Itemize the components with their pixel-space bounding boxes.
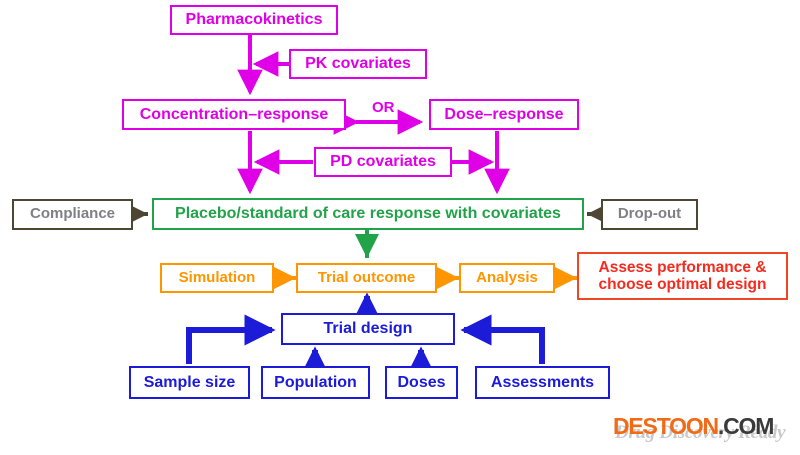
node-compliance[interactable]: Compliance [12,199,133,230]
edge-sample-size-to-trial-design [189,330,272,364]
node-label: Pharmacokinetics [186,11,323,29]
node-pd-covariates[interactable]: PD covariates [314,147,452,177]
node-label: Population [274,374,357,392]
node-assessments[interactable]: Assessments [475,366,610,399]
node-label: PK covariates [305,55,411,73]
node-label: Sample size [144,374,236,392]
node-population[interactable]: Population [261,366,370,399]
node-label: Analysis [476,270,538,287]
edge-assessments-to-trial-design [464,330,542,364]
node-pk-covariates[interactable]: PK covariates [289,49,427,79]
node-label: Assess performance & choose optimal desi… [599,259,767,294]
watermark-brand-secondary: .COM [718,413,773,439]
node-label: PD covariates [330,153,436,171]
node-label: Drop-out [618,206,681,223]
node-assess-performance[interactable]: Assess performance & choose optimal desi… [577,252,788,300]
node-label: Assessments [491,374,594,392]
watermark-brand-primary: DESTOON [613,413,718,439]
node-label: Dose–response [444,106,563,124]
node-label: Compliance [30,206,115,223]
node-trial-outcome[interactable]: Trial outcome [296,263,437,293]
node-trial-design[interactable]: Trial design [281,313,455,345]
node-label: Simulation [179,270,256,287]
diagram-canvas: Pharmacokinetics PK covariates Concentra… [0,0,800,455]
node-pharmacokinetics[interactable]: Pharmacokinetics [170,5,338,35]
label-or: OR [372,99,395,116]
node-label: Doses [397,374,445,392]
node-analysis[interactable]: Analysis [459,263,555,293]
node-concentration-response[interactable]: Concentration–response [122,99,346,130]
node-label: Trial outcome [318,270,416,287]
node-dropout[interactable]: Drop-out [601,199,698,230]
node-simulation[interactable]: Simulation [160,263,274,293]
node-label: Trial design [324,320,413,338]
node-label: Concentration–response [140,106,328,124]
node-label: Placebo/standard of care response with c… [175,205,561,223]
watermark-brand: DESTOON.COM [613,413,773,440]
node-placebo-response[interactable]: Placebo/standard of care response with c… [152,198,584,230]
node-dose-response[interactable]: Dose–response [429,99,579,130]
node-doses[interactable]: Doses [385,366,458,399]
node-sample-size[interactable]: Sample size [129,366,250,399]
watermark: Drug Discovery Ready DESTOON.COM [613,409,793,451]
